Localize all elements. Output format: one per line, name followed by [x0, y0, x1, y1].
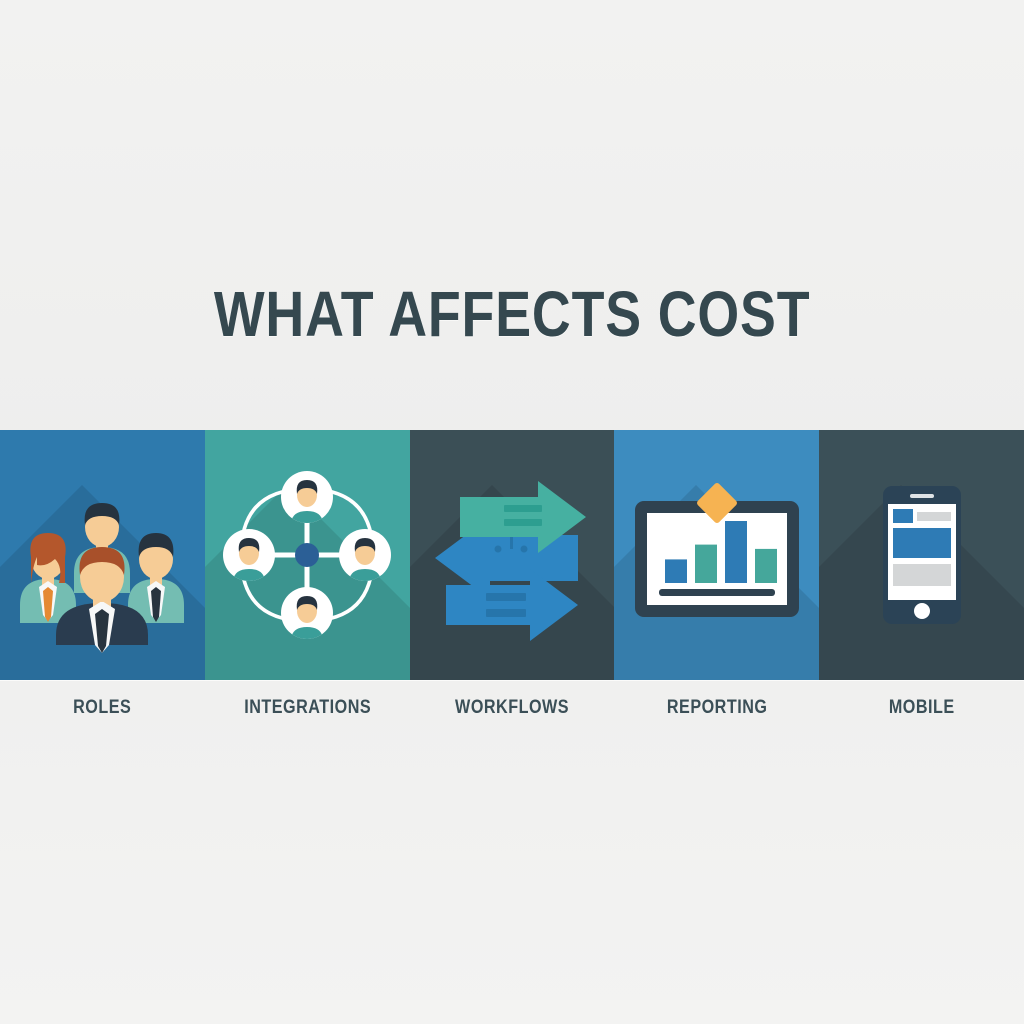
page-title-wrap: WHAT AFFECTS COST: [0, 282, 1024, 346]
chart-bar: [725, 521, 747, 583]
panel-integrations[interactable]: [205, 430, 410, 680]
panel-label-mobile: MOBILE: [889, 697, 955, 719]
bar-chart-board-icon: [614, 430, 819, 680]
panel-workflows[interactable]: [410, 430, 615, 680]
label-cell-roles: ROLES: [0, 697, 205, 719]
panel-labels: ROLES INTEGRATIONS WORKFLOWS REPORTING M…: [0, 697, 1024, 719]
panel-label-reporting: REPORTING: [666, 697, 767, 719]
process-arrows-icon: [410, 430, 615, 680]
network-nodes-icon: [205, 430, 410, 680]
people-group-icon: [0, 430, 205, 680]
chart-bar: [695, 545, 717, 583]
panel-band: [0, 430, 1024, 680]
page-title: WHAT AFFECTS COST: [214, 282, 811, 346]
panel-label-workflows: WORKFLOWS: [455, 697, 569, 719]
label-cell-mobile: MOBILE: [819, 697, 1024, 719]
panel-mobile[interactable]: [819, 430, 1024, 680]
label-cell-workflows: WORKFLOWS: [410, 697, 615, 719]
label-cell-integrations: INTEGRATIONS: [205, 697, 410, 719]
infographic-canvas: WHAT AFFECTS COST: [0, 0, 1024, 1024]
chart-bar: [755, 549, 777, 583]
label-cell-reporting: REPORTING: [614, 697, 819, 719]
chart-bar: [665, 559, 687, 583]
panel-label-roles: ROLES: [73, 697, 131, 719]
panel-reporting[interactable]: [614, 430, 819, 680]
smartphone-icon: [819, 430, 1024, 680]
panel-roles[interactable]: [0, 430, 205, 680]
panel-label-integrations: INTEGRATIONS: [244, 697, 371, 719]
